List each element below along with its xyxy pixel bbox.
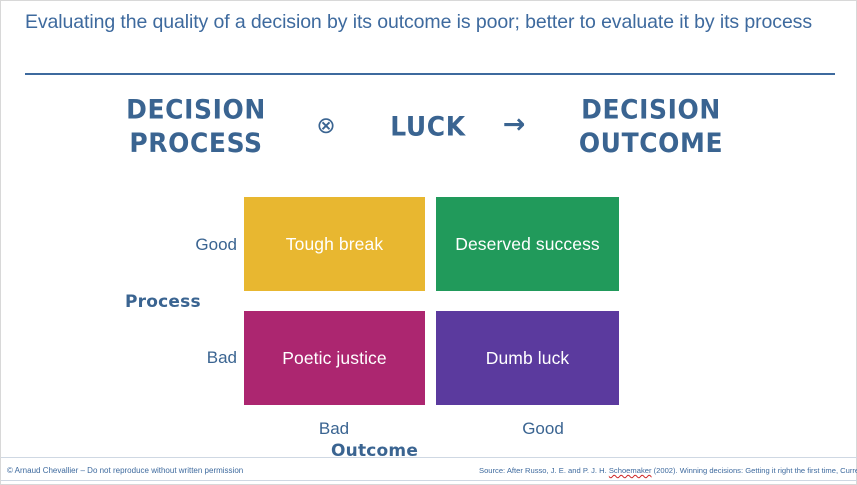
matrix-cell-deserved-success: Deserved success — [436, 197, 619, 291]
footer-source-flagged-word: Schoemaker — [609, 466, 652, 475]
footer-source-suffix: (2002). Winning decisions: Getting it ri… — [652, 466, 857, 475]
axis-title-outcome: Outcome — [331, 441, 531, 461]
slide-canvas: Evaluating the quality of a decision by … — [0, 0, 857, 485]
decision-matrix: Tough break Deserved success Poetic just… — [1, 1, 857, 485]
footer-source: Source: After Russo, J. E. and P. J. H. … — [479, 465, 854, 477]
row-tick-good: Good — [153, 235, 237, 255]
column-tick-bad: Bad — [284, 419, 384, 439]
matrix-cell-dumb-luck: Dumb luck — [436, 311, 619, 405]
column-tick-good: Good — [493, 419, 593, 439]
footer-bottom-divider — [1, 480, 857, 481]
axis-title-process: Process — [125, 292, 235, 312]
row-tick-bad: Bad — [153, 348, 237, 368]
footer-copyright: © Arnaud Chevallier – Do not reproduce w… — [7, 465, 243, 477]
footer-divider — [1, 457, 857, 458]
matrix-cell-poetic-justice: Poetic justice — [244, 311, 425, 405]
footer-source-prefix: Source: After Russo, J. E. and P. J. H. — [479, 466, 609, 475]
matrix-cell-tough-break: Tough break — [244, 197, 425, 291]
